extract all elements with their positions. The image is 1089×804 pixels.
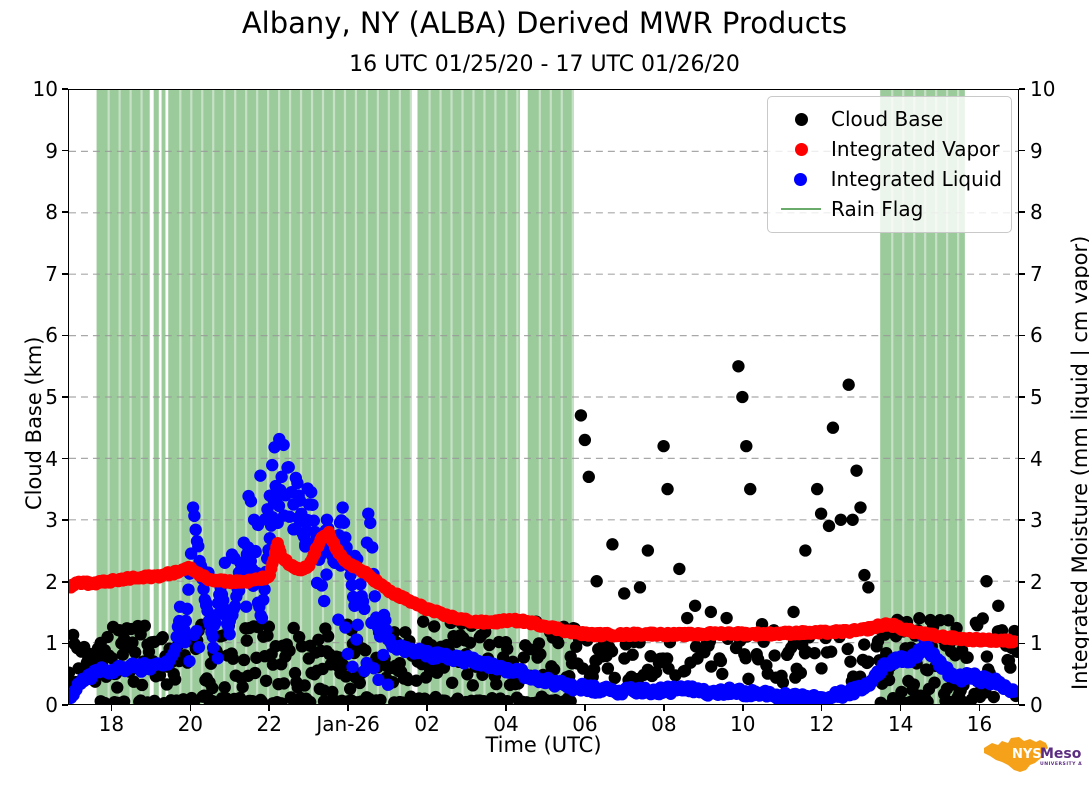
y-tick-left-1: 1	[18, 633, 58, 653]
legend-label: Rain Flag	[825, 197, 923, 221]
legend-swatch	[795, 113, 808, 126]
legend-item-integrated-liquid[interactable]: Integrated Liquid	[777, 164, 1002, 194]
logo-mesonet-text: Mesonet	[1040, 746, 1082, 762]
legend-label: Integrated Vapor	[825, 137, 1000, 161]
y-tick-right-10: 10	[1030, 79, 1070, 99]
y-tick-right-8: 8	[1030, 202, 1070, 222]
y-tick-left-8: 8	[18, 202, 58, 222]
y-tick-right-2: 2	[1030, 572, 1070, 592]
y-tickmark-right	[1019, 88, 1025, 90]
x-tickmark	[821, 705, 823, 711]
y-tick-left-7: 7	[18, 264, 58, 284]
x-tickmark	[268, 705, 270, 711]
y-tickmark-right	[1019, 211, 1025, 213]
y-tickmark-right	[1019, 273, 1025, 275]
y-tick-left-5: 5	[18, 387, 58, 407]
chart-subtitle: 16 UTC 01/25/20 - 17 UTC 01/26/20	[0, 52, 1089, 77]
x-tickmark	[900, 705, 902, 711]
y-tick-right-5: 5	[1030, 387, 1070, 407]
nys-mesonet-logo: NYS Mesonet UNIVERSITY AT ALBANY	[978, 732, 1082, 782]
y-tick-left-2: 2	[18, 572, 58, 592]
y-axis-label-right: Integrated Moisture (mm liquid | cm vapo…	[1068, 236, 1089, 690]
x-tickmark	[505, 705, 507, 711]
legend-marker-line-icon	[777, 208, 825, 211]
y-tick-left-3: 3	[18, 510, 58, 530]
x-tickmark	[663, 705, 665, 711]
y-tickmark-right	[1019, 335, 1025, 337]
legend-swatch	[794, 173, 807, 186]
legend-label: Integrated Liquid	[825, 167, 1002, 191]
x-tickmark	[979, 705, 981, 711]
legend-swatch	[795, 143, 808, 156]
x-tickmark	[426, 705, 428, 711]
y-tick-left-10: 10	[18, 79, 58, 99]
y-tick-left-4: 4	[18, 449, 58, 469]
y-tick-left-0: 0	[18, 695, 58, 715]
y-tick-right-3: 3	[1030, 510, 1070, 530]
logo-nys-text: NYS	[1012, 747, 1042, 762]
y-axis-label-left: Cloud Base (km)	[22, 337, 46, 510]
y-tick-right-0: 0	[1030, 695, 1070, 715]
chart-legend[interactable]: Cloud BaseIntegrated VaporIntegrated Liq…	[767, 96, 1012, 233]
legend-item-rain-flag[interactable]: Rain Flag	[777, 194, 1002, 224]
x-tickmark	[347, 705, 349, 711]
legend-swatch	[781, 208, 821, 211]
y-tickmark-right	[1019, 704, 1025, 706]
legend-label: Cloud Base	[825, 107, 943, 131]
figure: Albany, NY (ALBA) Derived MWR Products 1…	[0, 0, 1089, 804]
y-tick-right-7: 7	[1030, 264, 1070, 284]
x-tickmark	[742, 705, 744, 711]
x-axis-label: Time (UTC)	[68, 733, 1019, 757]
y-tickmark-right	[1019, 458, 1025, 460]
y-tick-right-9: 9	[1030, 141, 1070, 161]
y-tick-right-6: 6	[1030, 325, 1070, 345]
chart-title: Albany, NY (ALBA) Derived MWR Products	[0, 6, 1089, 40]
y-tickmark-right	[1019, 643, 1025, 645]
y-tick-right-1: 1	[1030, 633, 1070, 653]
x-tickmark	[584, 705, 586, 711]
logo-university-text: UNIVERSITY AT ALBANY	[1040, 761, 1082, 767]
y-tick-left-9: 9	[18, 141, 58, 161]
y-tickmark-right	[1019, 519, 1025, 521]
legend-marker-dot-icon	[777, 173, 825, 186]
legend-marker-dot-icon	[777, 143, 825, 156]
legend-marker-dot-icon	[777, 113, 825, 126]
y-tickmark-right	[1019, 150, 1025, 152]
y-tick-left-6: 6	[18, 325, 58, 345]
legend-item-integrated-vapor[interactable]: Integrated Vapor	[777, 134, 1002, 164]
y-tickmark-right	[1019, 396, 1025, 398]
x-tickmark	[111, 705, 113, 711]
y-tick-right-4: 4	[1030, 449, 1070, 469]
y-tickmark-right	[1019, 581, 1025, 583]
x-tickmark	[190, 705, 192, 711]
legend-item-cloud-base[interactable]: Cloud Base	[777, 104, 1002, 134]
